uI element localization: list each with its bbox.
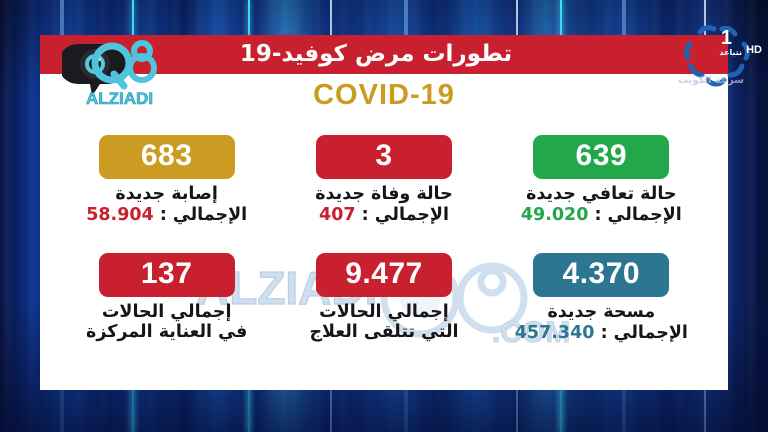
stat-total: الإجمالي : 457.340 [515, 323, 688, 344]
stat-cell-new-recoveries: 639 حالة تعافي جديدة الإجمالي : 49.020 [493, 135, 710, 253]
stat-cell-under-treatment: 9.477 إجمالي الحالات التي تتلقى العلاج [275, 253, 492, 371]
stat-label-line2: في العناية المركزة [86, 322, 247, 343]
stat-total-label: الإجمالي : [160, 205, 247, 225]
stat-total: الإجمالي : 58.904 [86, 205, 247, 226]
stat-label: مسحة جديدة [547, 302, 655, 323]
stat-value-badge: 137 [99, 253, 235, 297]
channel-number: 1 [721, 28, 732, 48]
hd-badge: HD [746, 44, 762, 56]
stat-label: حالة تعافي جديدة [526, 184, 676, 205]
stat-total-value: 457.340 [515, 323, 595, 343]
page-title: تطورات مرض كوفيد-19 [240, 43, 512, 66]
stat-total-value: 58.904 [86, 205, 154, 225]
channel-slogan: نتباعد [719, 49, 742, 57]
stat-total-label: الإجمالي : [601, 323, 688, 343]
stat-label: إجمالي الحالات [102, 302, 232, 323]
alziadi-logo-graphic: ALZIADI [62, 30, 172, 114]
stat-value-badge: 9.477 [316, 253, 452, 297]
stat-value-badge: 683 [99, 135, 235, 179]
stat-total-value: 49.020 [521, 205, 589, 225]
stats-grid: 683 إصابة جديدة الإجمالي : 58.904 3 حالة… [58, 135, 710, 371]
stat-cell-new-deaths: 3 حالة وفاة جديدة الإجمالي : 407 [275, 135, 492, 253]
stat-value-badge: 4.370 [533, 253, 669, 297]
stat-total-value: 407 [319, 205, 356, 225]
stat-value-badge: 639 [533, 135, 669, 179]
stat-total: الإجمالي : 407 [319, 205, 449, 226]
alziadi-logo: ALZIADI [62, 30, 172, 114]
stat-label: حالة وفاة جديدة [315, 184, 453, 205]
station-watermark-text: سرعة الكويت [678, 76, 744, 86]
stat-cell-new-swabs: 4.370 مسحة جديدة الإجمالي : 457.340 [493, 253, 710, 371]
stat-total: الإجمالي : 49.020 [521, 205, 682, 226]
stat-label: إجمالي الحالات [319, 302, 449, 323]
stat-total-label: الإجمالي : [594, 205, 681, 225]
stat-label-line2: التي تتلقى العلاج [309, 322, 458, 343]
stat-total-label: الإجمالي : [362, 205, 449, 225]
alziadi-wordmark: ALZIADI [86, 89, 153, 108]
stats-panel: تطورات مرض كوفيد-19 COVID-19 ALZIADI .CO… [40, 35, 728, 390]
stat-label: إصابة جديدة [115, 184, 218, 205]
stat-value-badge: 3 [316, 135, 452, 179]
stat-cell-new-infections: 683 إصابة جديدة الإجمالي : 58.904 [58, 135, 275, 253]
stat-cell-icu-cases: 137 إجمالي الحالات في العناية المركزة [58, 253, 275, 371]
